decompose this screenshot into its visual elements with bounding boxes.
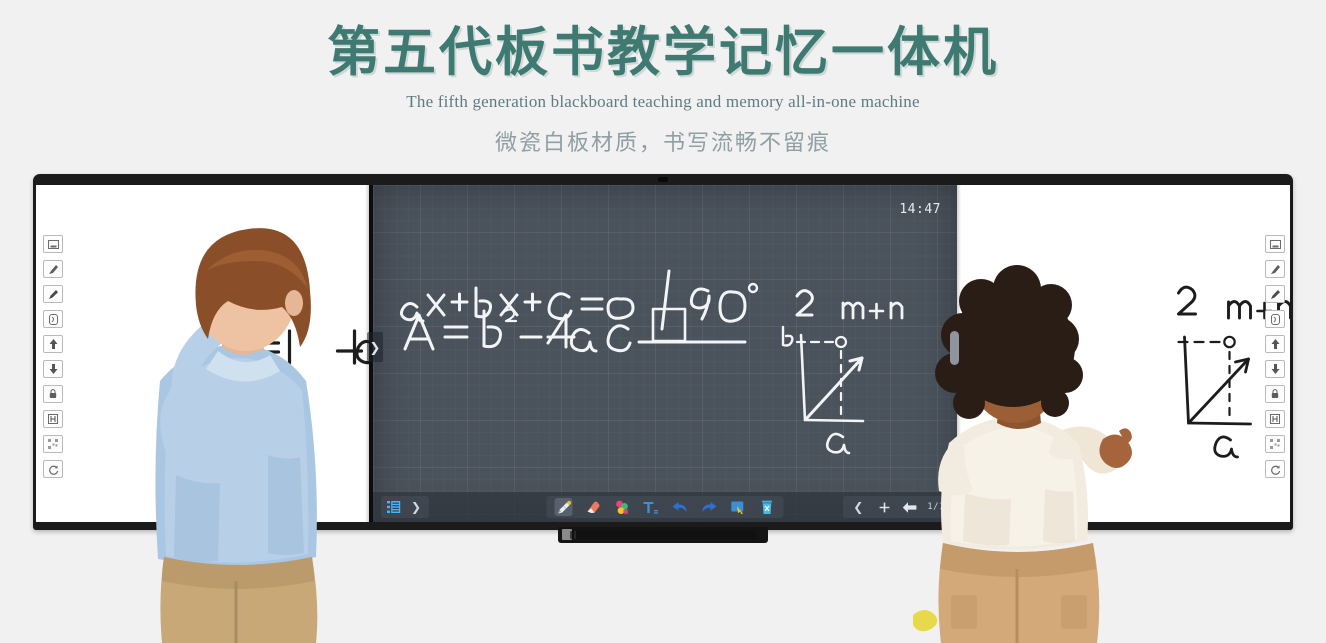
select-icon[interactable] (729, 498, 747, 516)
sidebar-item-pen-thick-icon[interactable] (1265, 285, 1285, 303)
pen-icon[interactable] (555, 498, 573, 516)
sidebar-item-minimize-window-icon[interactable] (1265, 235, 1285, 253)
toolbar-center-group[interactable] (547, 496, 784, 518)
sidebar-item-refresh-icon[interactable] (43, 460, 63, 478)
sidebar-item-lock-icon[interactable] (43, 385, 63, 403)
undo-icon[interactable] (671, 498, 689, 516)
eraser-icon[interactable] (584, 498, 602, 516)
chevron-right-glyph: ❯ (411, 501, 421, 513)
sidebar-item-arrow-up-icon[interactable] (43, 335, 63, 353)
chevron-right-icon[interactable]: ❯ (407, 498, 425, 516)
redo-icon[interactable] (700, 498, 718, 516)
sidebar-item-arrow-up-icon[interactable] (1265, 335, 1285, 353)
page-title: 第五代板书教学记忆一体机 (0, 0, 1326, 84)
screen-drag-handle[interactable] (950, 331, 959, 365)
sidebar-item-arrow-down-icon[interactable] (1265, 360, 1285, 378)
add-page-icon[interactable] (875, 498, 893, 516)
sidebar-item-eraser-tool-icon[interactable] (43, 310, 63, 328)
text-tool-icon[interactable] (642, 498, 660, 516)
sidebar-item-lock-icon[interactable] (1265, 385, 1285, 403)
menu-list-icon[interactable] (385, 498, 403, 516)
sidebar-item-pen-thin-icon[interactable] (43, 260, 63, 278)
sidebar-item-eraser-tool-icon[interactable] (1265, 310, 1285, 328)
sidebar-item-save-h-icon[interactable] (43, 410, 63, 428)
shapes-icon[interactable] (613, 498, 631, 516)
prev-page-glyph: ❮ (853, 501, 863, 513)
sidebar-item-qr-code-icon[interactable] (43, 435, 63, 453)
delete-icon[interactable] (758, 498, 776, 516)
center-screen-handwriting (373, 185, 957, 522)
device-io-port-bar (558, 527, 768, 543)
panel-expand-chevron-icon[interactable]: ❯ (367, 332, 383, 362)
prev-page-icon[interactable]: ❮ (849, 498, 867, 516)
port-strip (570, 531, 756, 539)
product-banner: 第五代板书教学记忆一体机 The fifth generation blackb… (0, 0, 1326, 643)
header: 第五代板书教学记忆一体机 The fifth generation blackb… (0, 0, 1326, 156)
sidebar-item-pen-thick-icon[interactable] (43, 285, 63, 303)
sidebar-item-minimize-window-icon[interactable] (43, 235, 63, 253)
page-subtitle-en: The fifth generation blackboard teaching… (0, 84, 1326, 112)
right-person-student (905, 243, 1135, 643)
sidebar-item-save-h-icon[interactable] (1265, 410, 1285, 428)
right-whiteboard-sidebar[interactable] (1265, 235, 1283, 478)
sidebar-item-refresh-icon[interactable] (1265, 460, 1285, 478)
sidebar-item-pen-thin-icon[interactable] (1265, 260, 1285, 278)
toolbar-left-group[interactable]: ❯ (381, 496, 429, 518)
sidebar-item-arrow-down-icon[interactable] (43, 360, 63, 378)
left-person-teacher (118, 175, 358, 643)
camera-icon (658, 177, 668, 182)
page-subtitle-cn: 微瓷白板材质，书写流畅不留痕 (0, 112, 1326, 156)
left-whiteboard-sidebar[interactable] (43, 235, 61, 478)
screen-bottom-toolbar[interactable]: ❯ (373, 492, 957, 522)
sidebar-item-qr-code-icon[interactable] (1265, 435, 1285, 453)
center-interactive-screen[interactable]: 14:47 (373, 185, 957, 522)
